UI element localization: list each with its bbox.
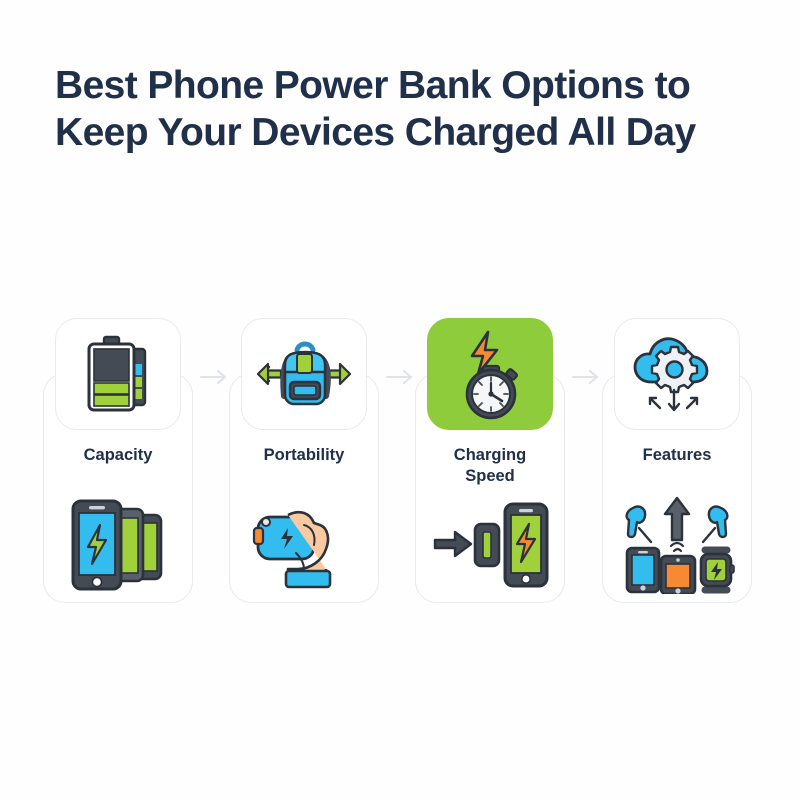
stacked-phones-charging-art xyxy=(43,490,193,598)
page-title-line-1: Best Phone Power Bank Options to xyxy=(55,62,755,109)
arrow-charging-speed-to-features-icon xyxy=(567,366,607,388)
step-portability-icon-tile[interactable] xyxy=(241,318,367,430)
power-bank-to-phone-art xyxy=(415,490,565,598)
step-features[interactable]: Features xyxy=(602,318,752,603)
step-capacity[interactable]: Capacity xyxy=(43,318,193,603)
step-features-label: Features xyxy=(602,445,752,466)
cloud-gear-sync-icon xyxy=(627,330,727,418)
devices-earbuds-sync-art xyxy=(602,490,752,598)
step-features-icon-tile[interactable] xyxy=(614,318,740,430)
battery-levels-icon xyxy=(79,331,157,417)
feature-flow-row: Capacity xyxy=(0,318,800,618)
stopwatch-bolt-icon xyxy=(447,328,533,420)
step-charging-speed-label: Charging Speed xyxy=(415,445,565,487)
page-title-line-2: Keep Your Devices Charged All Day xyxy=(55,109,755,156)
step-portability[interactable]: Portability xyxy=(229,318,379,603)
step-charging-speed-icon-tile[interactable] xyxy=(427,318,553,430)
page-title: Best Phone Power Bank Options to Keep Yo… xyxy=(55,62,755,156)
hand-holding-power-bank-art xyxy=(229,490,379,598)
step-capacity-label: Capacity xyxy=(43,445,193,466)
backpack-arrows-icon xyxy=(252,334,356,414)
step-capacity-icon-tile[interactable] xyxy=(55,318,181,430)
step-charging-speed[interactable]: Charging Speed xyxy=(415,318,565,603)
step-portability-label: Portability xyxy=(229,445,379,466)
